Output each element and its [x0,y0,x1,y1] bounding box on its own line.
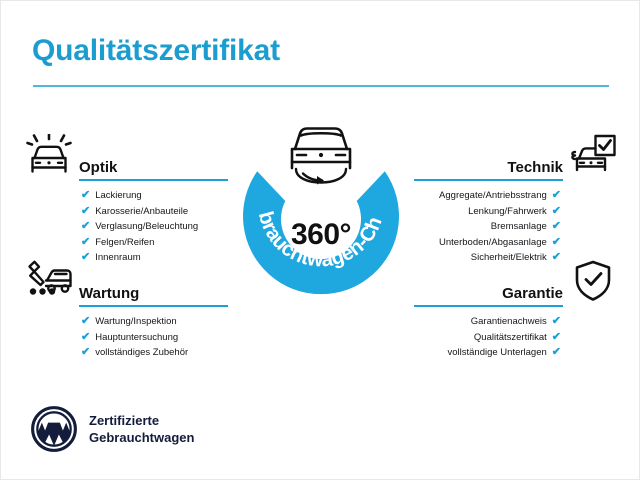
footer-logo-line2: Gebrauchtwagen [89,429,194,446]
list-item-label: Felgen/Reifen [95,235,154,251]
check-list-technik: ✔Aggregate/Antriebsstrang ✔Lenkung/Fahrw… [414,181,619,266]
check-icon: ✔ [81,316,90,327]
section-title-garantie: Garantie [414,285,563,305]
section-title-wrap-technik: Technik [414,159,563,181]
section-title-wartung: Wartung [79,285,228,305]
check-icon: ✔ [552,237,561,248]
section-title-optik: Optik [79,159,228,179]
check-icon: ✔ [81,332,90,343]
list-item-label: Wartung/Inspektion [95,314,177,330]
list-item-label: Unterboden/Abgasanlage [439,235,547,251]
list-item-label: Lackierung [95,188,141,204]
list-item-label: vollständiges Zubehör [95,345,188,361]
section-header-technik: Technik [414,133,619,181]
section-underline-wartung [79,305,228,307]
title-divider [33,85,609,87]
list-item: ✔Wartung/Inspektion [23,314,228,330]
list-item: ✔Bremsanlage [414,219,619,235]
list-item: ✔vollständige Unterlagen [414,345,619,361]
check-icon: ✔ [81,237,90,248]
page-title: Qualitätszertifikat [32,34,280,68]
list-item-label: Garantienachweis [471,314,547,330]
check-icon: ✔ [81,221,90,232]
list-item-label: Verglasung/Beleuchtung [95,219,198,235]
list-item: ✔Qualitätszertifikat [414,330,619,346]
check-icon: ✔ [81,347,90,358]
pen-car-service-icon [23,259,75,303]
check-icon: ✔ [552,190,561,201]
car-front-shine-icon [23,133,75,177]
badge-360-gebrauchtwagen-check: Gebrauchtwagen-Check 360° [229,121,413,311]
section-garantie: Garantie ✔Garantienachweis ✔Qualitätszer… [414,259,619,361]
list-item: ✔Verglasung/Beleuchtung [23,219,228,235]
section-wartung: Wartung ✔Wartung/Inspektion ✔Hauptunters… [23,259,228,361]
list-item-label: Qualitätszertifikat [474,330,547,346]
list-item: ✔Lackierung [23,188,228,204]
section-title-wrap-optik: Optik [79,159,228,181]
list-item: ✔Felgen/Reifen [23,235,228,251]
list-item: ✔Lenkung/Fahrwerk [414,204,619,220]
list-item-label: Bremsanlage [491,219,547,235]
car-checkbox-icon [567,133,619,177]
check-icon: ✔ [552,347,561,358]
list-item-label: Karosserie/Anbauteile [95,204,188,220]
check-icon: ✔ [552,206,561,217]
list-item-label: Lenkung/Fahrwerk [468,204,547,220]
check-icon: ✔ [81,190,90,201]
section-title-wrap-garantie: Garantie [414,285,563,307]
section-title-technik: Technik [414,159,563,179]
check-icon: ✔ [552,316,561,327]
check-list-optik: ✔Lackierung ✔Karosserie/Anbauteile ✔Verg… [23,181,228,266]
section-technik: Technik ✔Aggregate/Antriebsstrang ✔Lenku… [414,133,619,266]
section-title-wrap-wartung: Wartung [79,285,228,307]
list-item-label: Hauptuntersuchung [95,330,178,346]
shield-check-icon [567,259,619,303]
list-item: ✔Unterboden/Abgasanlage [414,235,619,251]
list-item: ✔Aggregate/Antriebsstrang [414,188,619,204]
list-item: ✔vollständiges Zubehör [23,345,228,361]
section-header-wartung: Wartung [23,259,228,307]
section-header-optik: Optik [23,133,228,181]
footer-logo-line1: Zertifizierte [89,412,194,429]
check-icon: ✔ [81,206,90,217]
list-item: ✔Garantienachweis [414,314,619,330]
certificate-page: Qualitätszertifikat Optik [0,0,640,480]
list-item: ✔Karosserie/Anbauteile [23,204,228,220]
volkswagen-logo-icon [31,406,77,452]
check-icon: ✔ [552,221,561,232]
check-list-wartung: ✔Wartung/Inspektion ✔Hauptuntersuchung ✔… [23,307,228,361]
section-header-garantie: Garantie [414,259,619,307]
list-item-label: Aggregate/Antriebsstrang [439,188,547,204]
check-icon: ✔ [552,332,561,343]
list-item-label: vollständige Unterlagen [447,345,546,361]
check-list-garantie: ✔Garantienachweis ✔Qualitätszertifikat ✔… [414,307,619,361]
list-item: ✔Hauptuntersuchung [23,330,228,346]
footer-logo: Zertifizierte Gebrauchtwagen [31,406,194,452]
footer-logo-text: Zertifizierte Gebrauchtwagen [89,412,194,446]
section-underline-garantie [414,305,563,307]
section-underline-optik [79,179,228,181]
section-underline-technik [414,179,563,181]
badge-degrees-label: 360° [229,218,413,252]
section-optik: Optik ✔Lackierung ✔Karosserie/Anbauteile… [23,133,228,266]
